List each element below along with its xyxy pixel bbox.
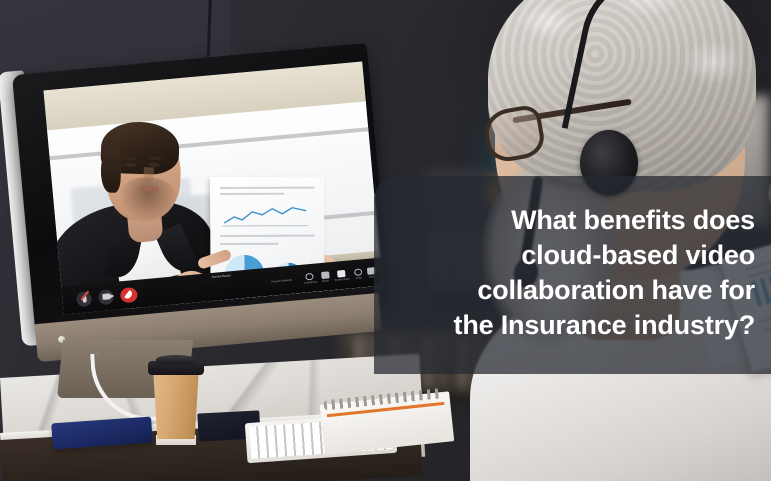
line-chart-graphic [222, 205, 308, 227]
coffee-cup-lid-top [156, 355, 196, 364]
headline-text-block: What benefits does cloud-based video col… [374, 176, 771, 374]
monitor-bezel: Service Board Present Network [12, 43, 390, 336]
microphone-muted-icon [82, 295, 87, 302]
camera-icon [102, 293, 111, 300]
call-primary-controls[interactable] [76, 286, 138, 306]
chat-icon [321, 271, 330, 279]
headline-line-1: What benefits does [511, 203, 755, 238]
record-button-label: Invite [356, 276, 362, 280]
call-secondary-controls[interactable]: Present Network Everything Share Screen … [271, 267, 376, 287]
participants-button[interactable]: Everything [303, 272, 316, 284]
camera-button[interactable] [98, 289, 114, 305]
participants-icon [306, 272, 315, 280]
screen-share-icon [337, 269, 346, 277]
chat-button[interactable]: Share [321, 271, 330, 283]
coffee-cup-body [150, 369, 202, 439]
promo-banner: Service Board Present Network [0, 0, 771, 481]
coffee-cup [146, 355, 206, 445]
end-call-button[interactable] [120, 286, 138, 302]
participant-eyebrow-left [122, 157, 137, 160]
participant-sideburn [100, 146, 121, 193]
monitor-screen: Service Board Present Network [43, 61, 382, 314]
phone-hangup-icon [124, 289, 133, 299]
participants-button-label: Everything [304, 280, 316, 284]
participant-eye-right [149, 162, 160, 167]
headline-line-3: collaboration have for [477, 273, 755, 308]
chat-button-label: Share [322, 279, 329, 283]
share-screen-button[interactable]: Screen share [334, 269, 350, 281]
meeting-title: Service Board [211, 273, 230, 279]
headline-line-4: the Insurance industry? [454, 308, 755, 343]
participants-label: Present Network [271, 278, 292, 284]
record-icon [354, 268, 363, 276]
record-button[interactable]: Invite [354, 268, 363, 280]
participant-eyebrow-right [147, 156, 161, 160]
headline-line-2: cloud-based video [521, 238, 755, 273]
share-screen-button-label: Screen share [334, 277, 350, 281]
participant-mouth [141, 187, 159, 192]
microphone-muted-button[interactable] [76, 291, 92, 307]
desktop-monitor: Service Board Present Network [4, 43, 391, 343]
